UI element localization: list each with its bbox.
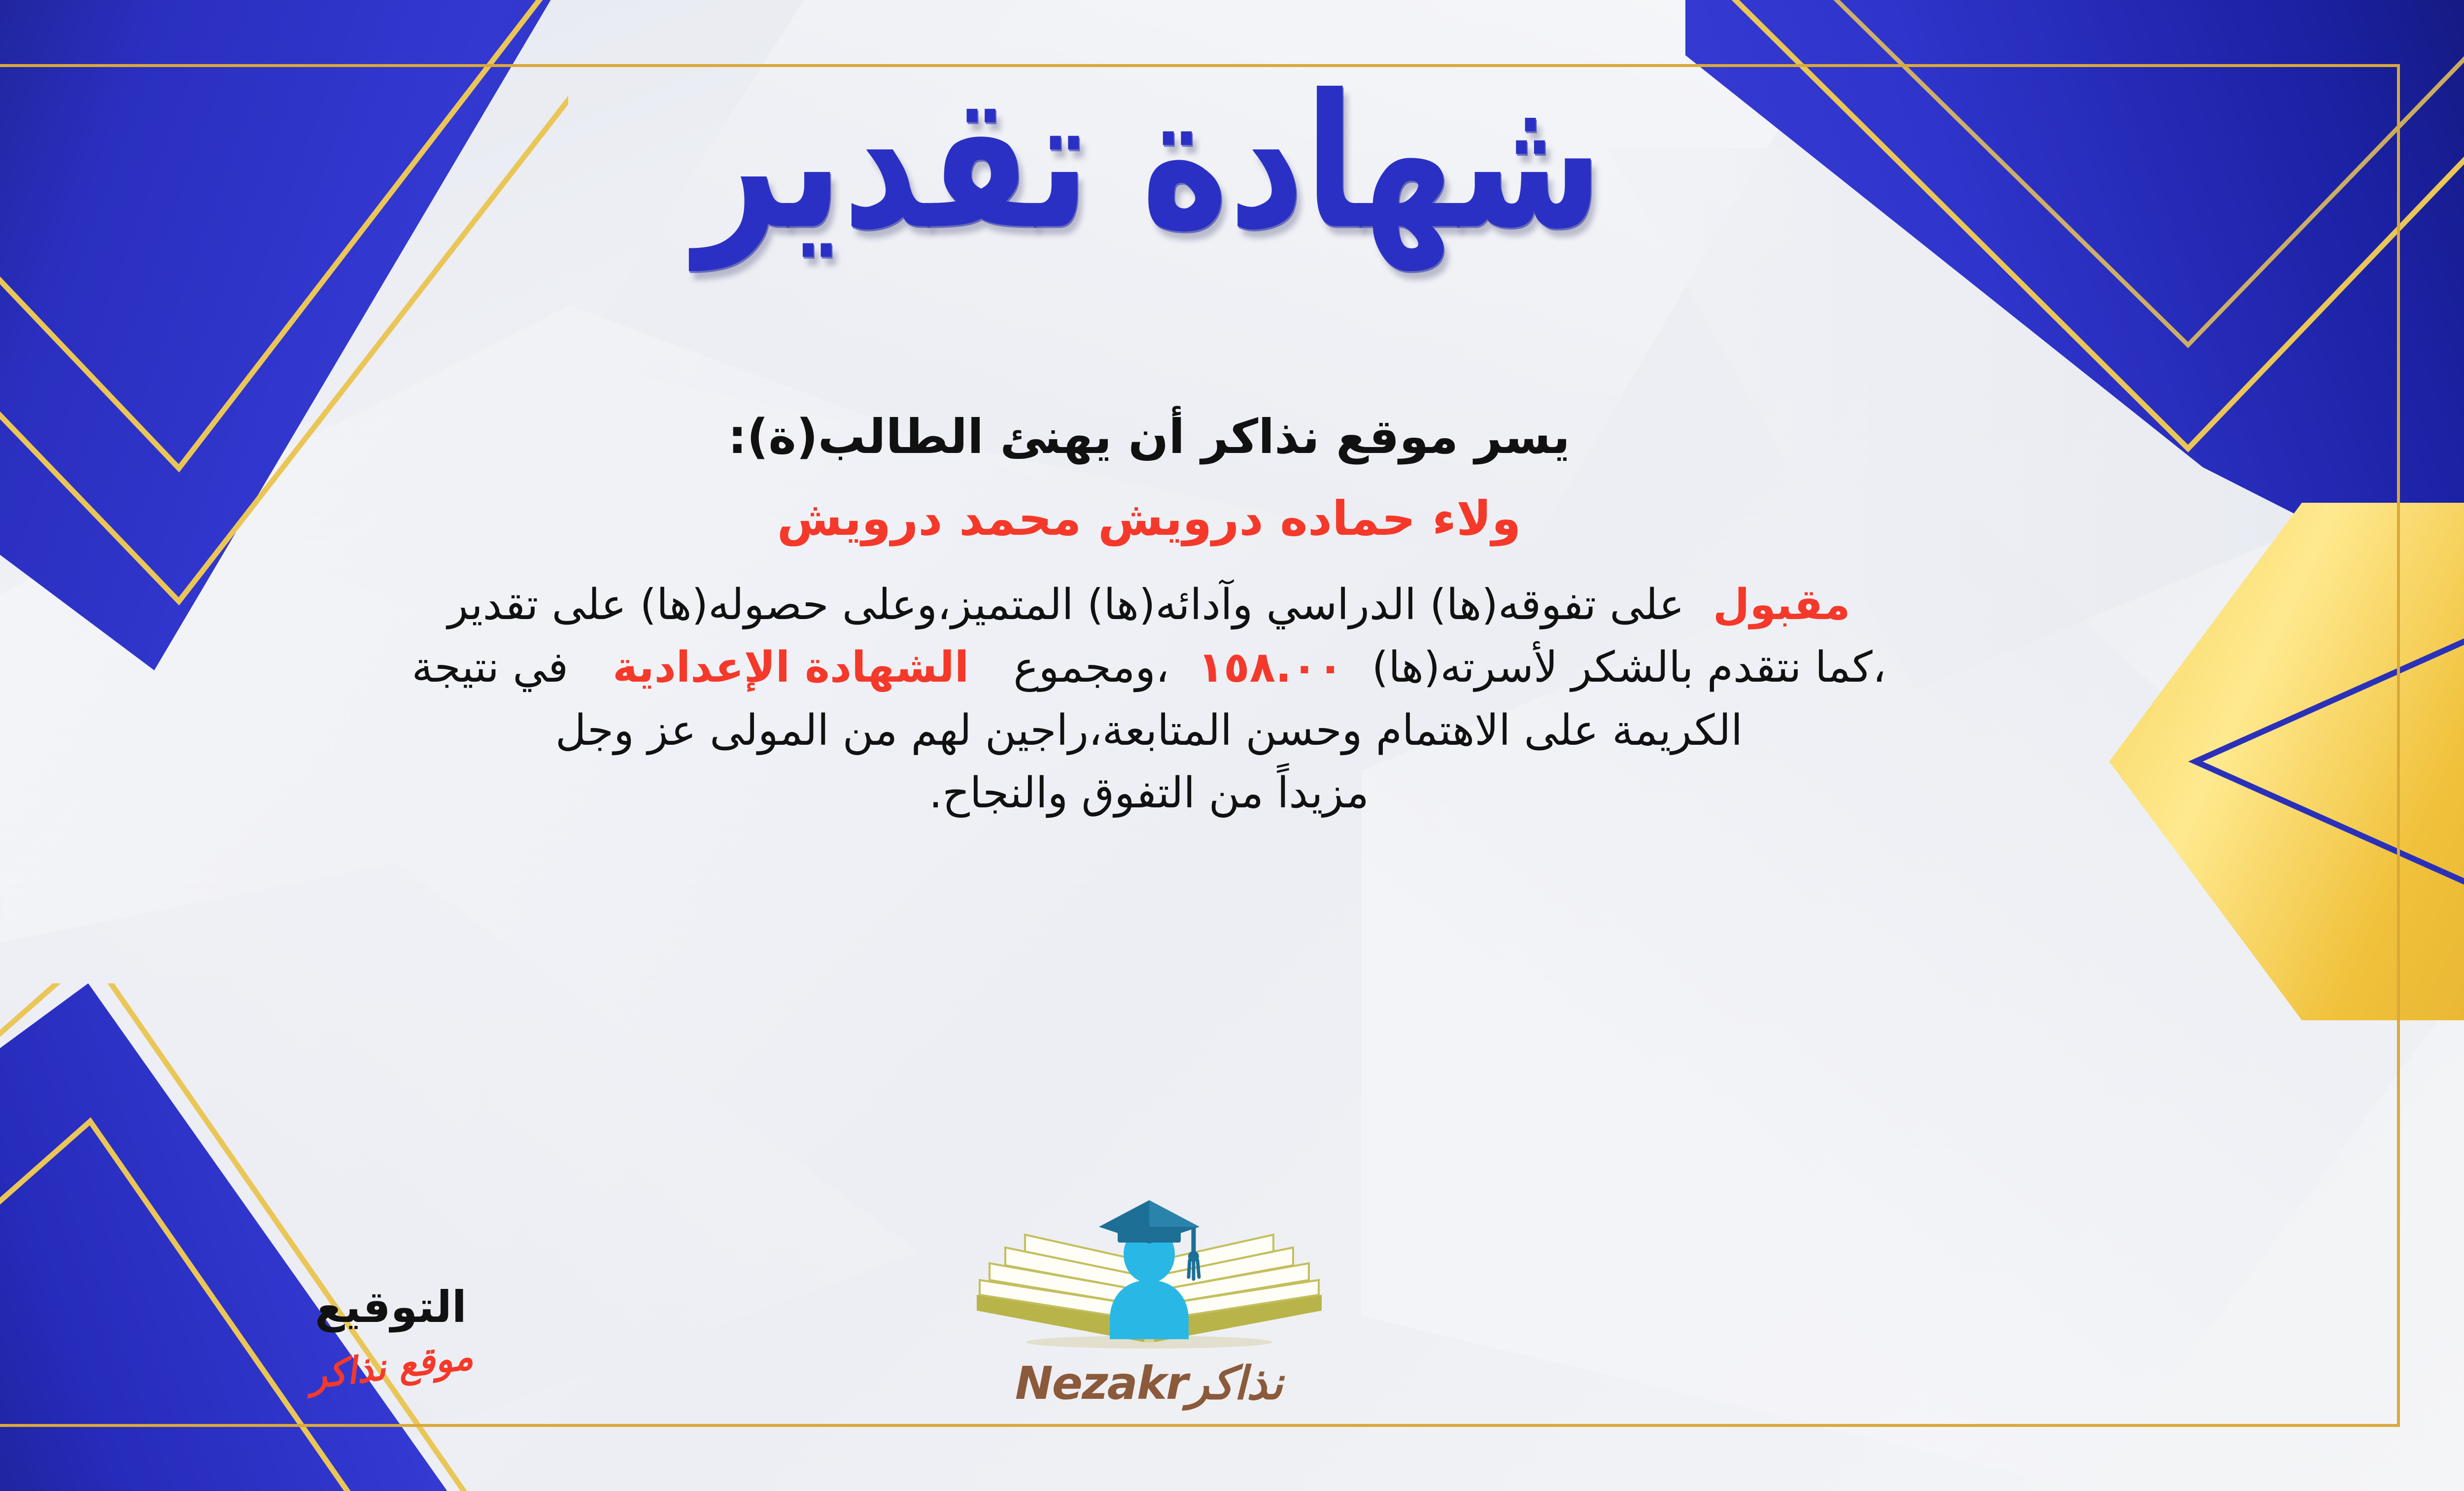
- citation-line-1-text: على تفوقه(ها) الدراسي وآدائه(ها) المتميز…: [447, 580, 1684, 629]
- page-title: شهادة تقدير: [695, 70, 1603, 255]
- logo-wordmark: نذاكرNezakr: [962, 1357, 1336, 1410]
- signature-label: التوقيع: [218, 1282, 563, 1332]
- total-score-value: ١٥٨.٠٠: [1198, 643, 1343, 692]
- certificate-title-area: شهادة تقدير: [0, 59, 2464, 266]
- certificate-canvas: شهادة تقدير يسر موقع نذاكر أن يهنئ الطال…: [0, 0, 2464, 1491]
- logo-wordmark-latin: Nezakr: [1015, 1357, 1188, 1410]
- citation-line-3: الكريمة على الاهتمام وحسن المتابعة،راجين…: [0, 699, 2311, 762]
- citation-line-2-head: في نتيجة: [412, 643, 569, 692]
- citation-line-2: ،كما نتقدم بالشكر لأسرته(ها)١٥٨.٠٠،ومجمو…: [0, 636, 2311, 699]
- exam-name-value: الشهادة الإعدادية: [613, 643, 969, 692]
- brand-logo: نذاكرNezakr: [962, 1196, 1336, 1410]
- student-name: ولاء حماده درويش محمد درويش: [0, 491, 2331, 546]
- greeting-line: يسر موقع نذاكر أن يهنئ الطالب(ة):: [0, 409, 2331, 464]
- citation-line-2-mid: ،ومجموع: [1013, 643, 1169, 692]
- grade-value: مقبول: [1713, 580, 1850, 629]
- logo-wordmark-arabic: نذاكر: [1187, 1357, 1283, 1410]
- citation-line-4: مزيداً من التفوق والنجاح.: [0, 762, 2311, 825]
- signature-block: التوقيع موقع نذاكر: [218, 1282, 563, 1387]
- citation-line-2-tail: ،كما نتقدم بالشكر لأسرته(ها): [1372, 643, 1886, 692]
- certificate-body: يسر موقع نذاكر أن يهنئ الطالب(ة): ولاء ح…: [0, 409, 2331, 825]
- citation-paragraph: مقبولعلى تفوقه(ها) الدراسي وآدائه(ها) ال…: [0, 574, 2331, 825]
- citation-line-1: مقبولعلى تفوقه(ها) الدراسي وآدائه(ها) ال…: [0, 574, 2311, 636]
- graduate-book-logo-icon: [962, 1196, 1336, 1359]
